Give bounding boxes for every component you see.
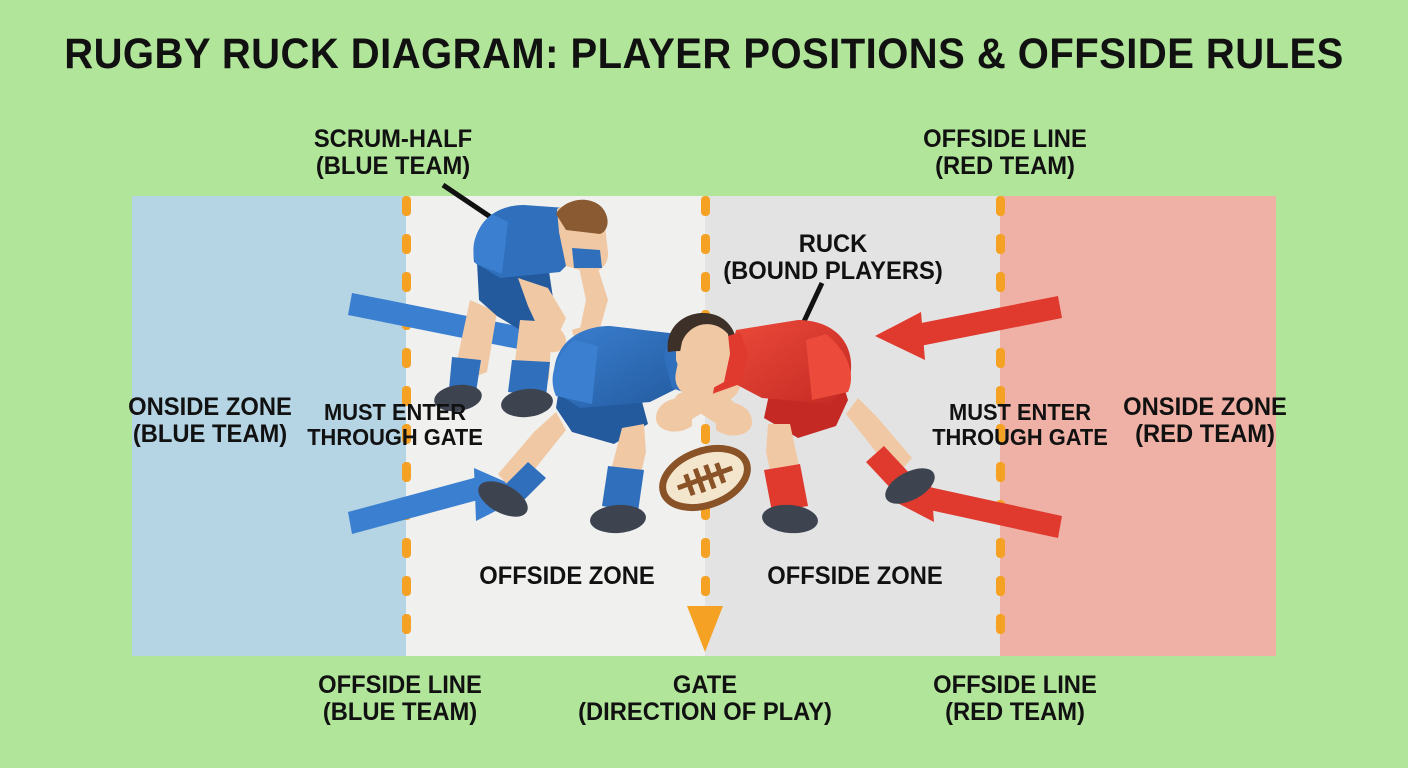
label-offside-zone-right: OFFSIDE ZONE [665,563,1045,590]
label-offside-line-red-top: OFFSIDE LINE (RED TEAM) [815,126,1195,180]
label-offside-line-red-top-line2: (RED TEAM) [815,153,1195,180]
label-offside-line-red-bottom: OFFSIDE LINE (RED TEAM) [825,672,1205,726]
label-offside-line-red-top-line1: OFFSIDE LINE [815,126,1195,153]
diagram-canvas: RUGBY RUCK DIAGRAM: PLAYER POSITIONS & O… [0,0,1408,768]
label-must-enter-gate-left: MUST ENTER THROUGH GATE [186,400,604,449]
label-onside-zone-red: ONSIDE ZONE (RED TEAM) [996,394,1408,448]
page-title: RUGBY RUCK DIAGRAM: PLAYER POSITIONS & O… [49,30,1358,79]
label-scrum-half: SCRUM-HALF (BLUE TEAM) [203,126,583,180]
label-offside-line-red-bottom-line1: OFFSIDE LINE [825,672,1205,699]
label-offside-line-red-bottom-line2: (RED TEAM) [825,699,1205,726]
label-ruck-line1: RUCK [643,231,1023,258]
label-scrum-half-line1: SCRUM-HALF [203,126,583,153]
label-onside-zone-red-line1: ONSIDE ZONE [996,394,1408,421]
label-onside-zone-red-line2: (RED TEAM) [996,421,1408,448]
label-scrum-half-line2: (BLUE TEAM) [203,153,583,180]
gate-direction-arrow-icon [683,600,727,658]
label-ruck: RUCK (BOUND PLAYERS) [643,231,1023,285]
label-must-enter-gate-left-line1: MUST ENTER [186,400,604,425]
label-ruck-line2: (BOUND PLAYERS) [643,258,1023,285]
label-must-enter-gate-left-line2: THROUGH GATE [186,425,604,450]
